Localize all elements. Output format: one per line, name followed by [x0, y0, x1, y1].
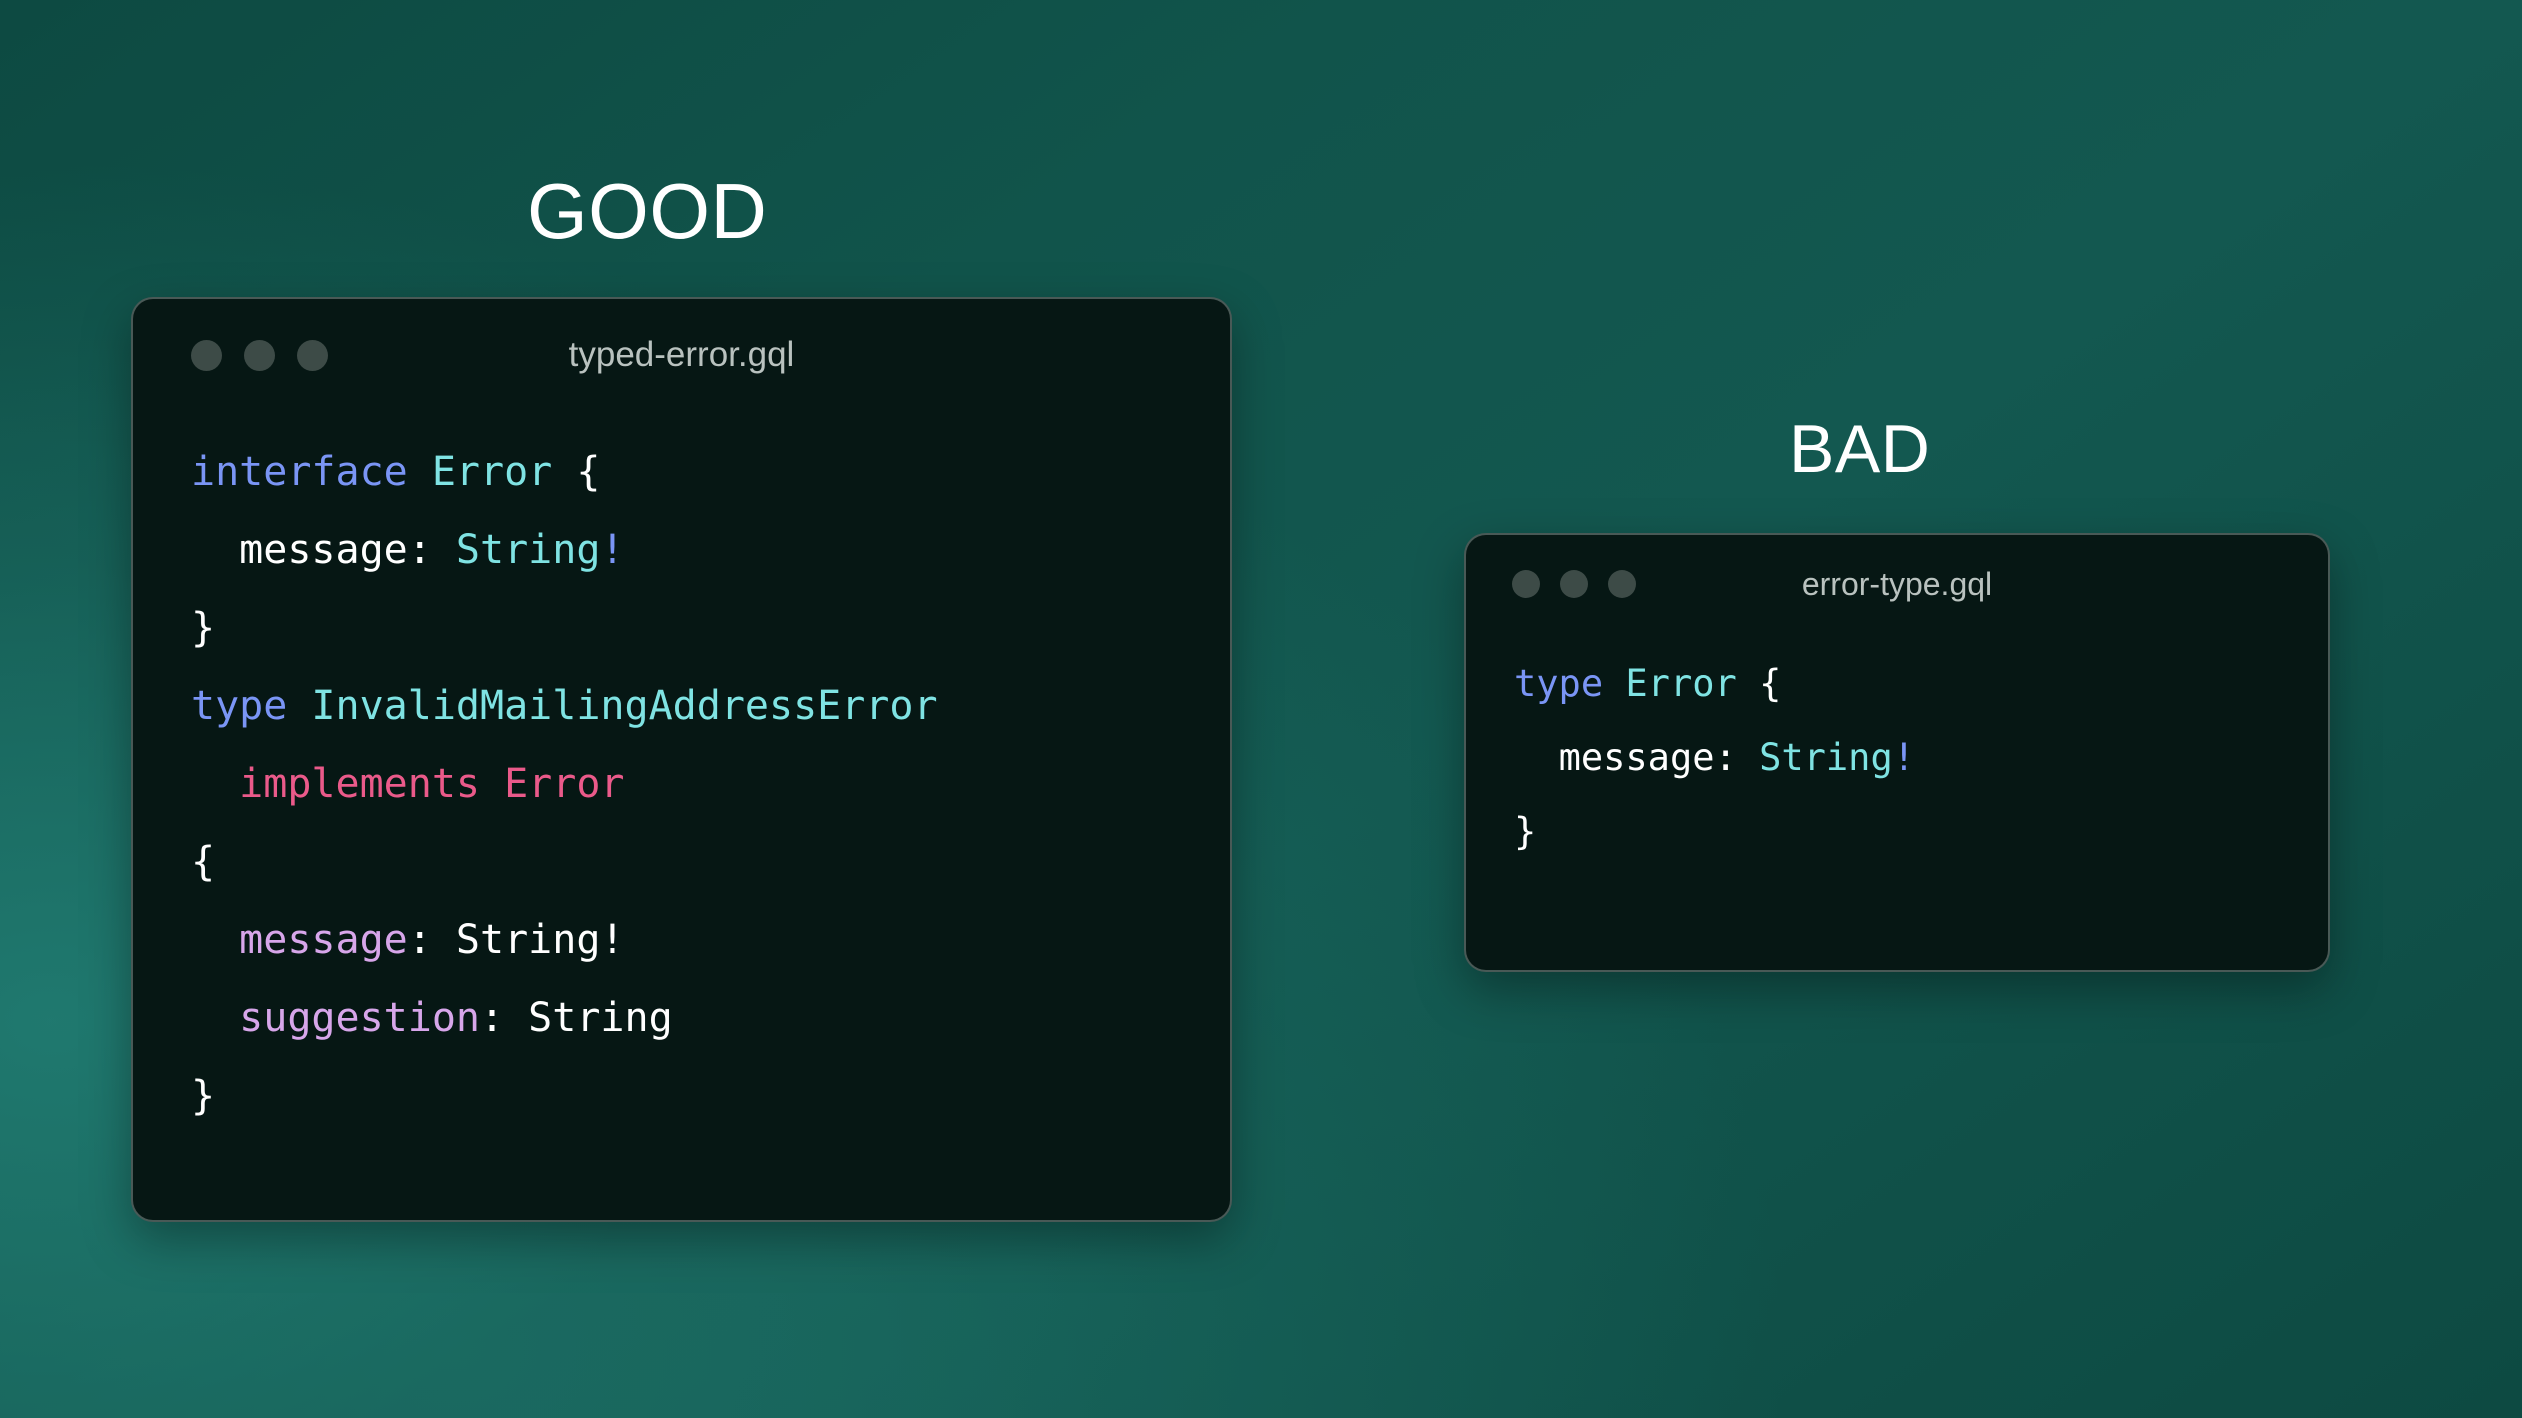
code-line: type Error { — [1514, 647, 2328, 721]
traffic-light-dot-minimize[interactable] — [1560, 570, 1588, 598]
window-titlebar-bad: error-type.gql — [1466, 535, 2328, 633]
code-token-type: InvalidMailingAddressError — [311, 683, 937, 729]
code-token-type: Error — [432, 449, 552, 495]
code-token-punct: : — [408, 917, 456, 963]
traffic-light-dot-maximize[interactable] — [1608, 570, 1636, 598]
code-line: } — [1514, 795, 2328, 869]
code-token-keyword: type — [191, 683, 287, 729]
code-token-plain — [552, 449, 576, 495]
code-token-punct: } — [191, 605, 215, 651]
code-token-plain — [191, 917, 239, 963]
slide-canvas: GOOD typed-error.gql interface Error { m… — [0, 0, 2522, 1418]
code-line: message: String! — [191, 901, 1230, 979]
traffic-light-group-good — [191, 340, 328, 371]
code-token-punct: : — [408, 527, 456, 573]
code-token-plain: String — [528, 995, 673, 1041]
code-window-bad: error-type.gql type Error { message: Str… — [1464, 533, 2330, 972]
traffic-light-dot-close[interactable] — [1512, 570, 1540, 598]
code-token-type: String — [1759, 736, 1893, 779]
heading-bad: BAD — [1789, 415, 1930, 483]
code-token-punct: { — [1759, 662, 1781, 705]
code-token-plain — [1737, 662, 1759, 705]
code-token-punct: : — [1715, 736, 1760, 779]
code-token-plain — [408, 449, 432, 495]
code-token-punct: : — [480, 995, 528, 1041]
code-window-good: typed-error.gql interface Error { messag… — [131, 297, 1232, 1222]
code-token-plain — [191, 761, 239, 807]
code-token-field: message — [239, 527, 408, 573]
code-token-field: message — [1559, 736, 1715, 779]
code-token-punct: } — [191, 1073, 215, 1119]
heading-good: GOOD — [527, 172, 767, 250]
code-token-bang: ! — [600, 527, 624, 573]
code-line: implements Error — [191, 745, 1230, 823]
code-token-punct: { — [191, 839, 215, 885]
code-block-good: interface Error { message: String!}type … — [133, 411, 1230, 1135]
traffic-light-dot-close[interactable] — [191, 340, 222, 371]
code-token-keyword: type — [1514, 662, 1603, 705]
code-token-field-alt: message — [239, 917, 408, 963]
window-titlebar-good: typed-error.gql — [133, 299, 1230, 411]
code-token-impl: implements Error — [239, 761, 624, 807]
traffic-light-group-bad — [1512, 570, 1636, 598]
code-line: } — [191, 589, 1230, 667]
code-token-punct: } — [1514, 810, 1536, 853]
code-token-plain — [191, 995, 239, 1041]
code-token-punct: { — [576, 449, 600, 495]
code-token-plain: String! — [456, 917, 625, 963]
code-token-plain — [191, 527, 239, 573]
code-line: message: String! — [191, 511, 1230, 589]
code-token-plain — [1514, 736, 1559, 779]
code-token-field-alt: suggestion — [239, 995, 480, 1041]
code-line: } — [191, 1057, 1230, 1135]
traffic-light-dot-maximize[interactable] — [297, 340, 328, 371]
code-token-plain — [287, 683, 311, 729]
code-block-bad: type Error { message: String!} — [1466, 633, 2328, 869]
code-line: { — [191, 823, 1230, 901]
code-token-keyword: interface — [191, 449, 408, 495]
traffic-light-dot-minimize[interactable] — [244, 340, 275, 371]
code-line: suggestion: String — [191, 979, 1230, 1057]
code-token-type: String — [456, 527, 601, 573]
code-line: interface Error { — [191, 433, 1230, 511]
code-line: type InvalidMailingAddressError — [191, 667, 1230, 745]
code-token-bang: ! — [1893, 736, 1915, 779]
code-token-plain — [1603, 662, 1625, 705]
code-token-type: Error — [1625, 662, 1736, 705]
code-line: message: String! — [1514, 721, 2328, 795]
